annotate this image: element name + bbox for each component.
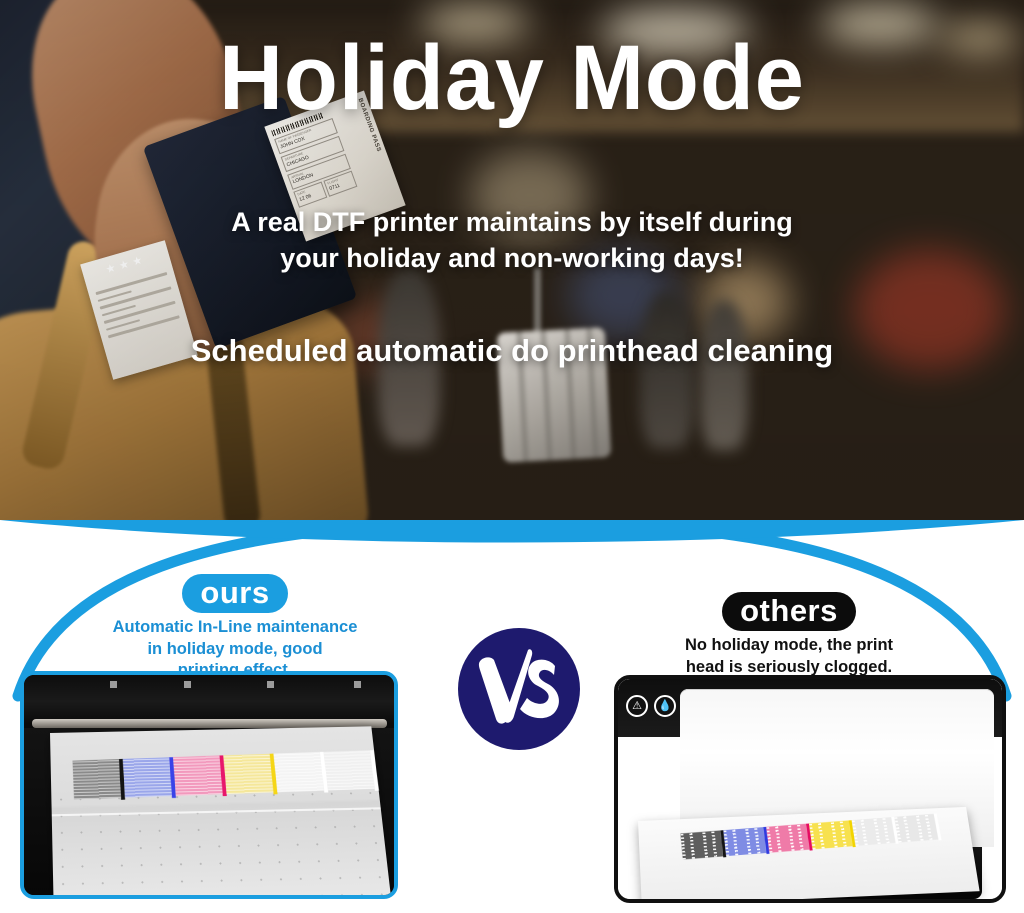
nozzle-check-sheet-good	[50, 726, 392, 899]
nozzle-block-lines	[72, 759, 120, 799]
others-caption-line-1: No holiday mode, the print	[554, 635, 1024, 656]
clogged-block-black	[680, 830, 723, 859]
ours-caption-line-1: Automatic In-Line maintenance	[0, 617, 470, 638]
comparison-section: ours Automatic In-Line maintenance in ho…	[0, 520, 1024, 913]
hero-text-block: Holiday Mode A real DTF printer maintain…	[0, 0, 1024, 520]
hero-headline-2: Scheduled automatic do printhead cleanin…	[32, 332, 992, 369]
ours-header: ours Automatic In-Line maintenance in ho…	[0, 574, 470, 682]
nozzle-block-cyan	[123, 757, 172, 797]
printer-status-icons: ⚠ 💧	[626, 695, 676, 717]
clogged-block-gaps	[723, 827, 766, 856]
nozzle-pattern-clogged	[680, 814, 941, 861]
warning-icon: ⚠	[626, 695, 648, 717]
ours-printer-photo	[20, 671, 398, 899]
clogged-block-gaps	[894, 814, 938, 843]
nozzle-block-black	[72, 759, 120, 799]
nozzle-block-lines	[123, 757, 172, 797]
clogged-block-white-2	[894, 814, 938, 843]
nozzle-check-sheet-bad	[638, 807, 980, 903]
blue-divider-band	[0, 520, 1024, 524]
nozzle-block-lines	[324, 750, 375, 790]
vs-icon	[471, 646, 567, 732]
nozzle-block-white-2	[324, 750, 375, 790]
hero-banner: ★★★ BOARDING PASS NAME OF PASSENGER JOHN…	[0, 0, 1024, 520]
others-caption: No holiday mode, the print head is serio…	[554, 635, 1024, 678]
ours-caption-line-2: in holiday mode, good	[0, 639, 470, 660]
nozzle-block-white-1	[274, 752, 324, 792]
vs-badge	[458, 628, 580, 750]
sheet-dot-grid	[51, 784, 391, 899]
hero-subtitle-line-2: your holiday and non-working days!	[72, 241, 952, 277]
clogged-block-gaps	[852, 817, 896, 846]
nozzle-block-lines	[173, 756, 222, 796]
ours-badge: ours	[182, 574, 287, 613]
page-title: Holiday Mode	[20, 32, 1003, 124]
others-header: others No holiday mode, the print head i…	[554, 592, 1024, 678]
clogged-block-yellow	[809, 820, 853, 849]
clogged-block-cyan	[723, 827, 766, 856]
others-badge: others	[722, 592, 856, 631]
clogged-block-gaps	[809, 820, 853, 849]
printer-body: ⚠ 💧	[618, 679, 1002, 899]
clogged-block-magenta	[766, 824, 809, 853]
printer-top-cover	[24, 675, 394, 723]
clogged-block-gaps	[680, 830, 723, 859]
ink-drop-icon: 💧	[654, 695, 676, 717]
nozzle-block-lines	[274, 752, 324, 792]
nozzle-block-lines	[223, 754, 273, 794]
clogged-block-white-1	[852, 817, 896, 846]
nozzle-block-yellow	[223, 754, 273, 794]
hero-subtitle-line-1: A real DTF printer maintains by itself d…	[72, 205, 952, 241]
others-printer-photo: ⚠ 💧	[614, 675, 1006, 903]
clogged-block-gaps	[766, 824, 809, 853]
hero-subtitle: A real DTF printer maintains by itself d…	[72, 205, 952, 276]
nozzle-block-magenta	[173, 756, 222, 796]
